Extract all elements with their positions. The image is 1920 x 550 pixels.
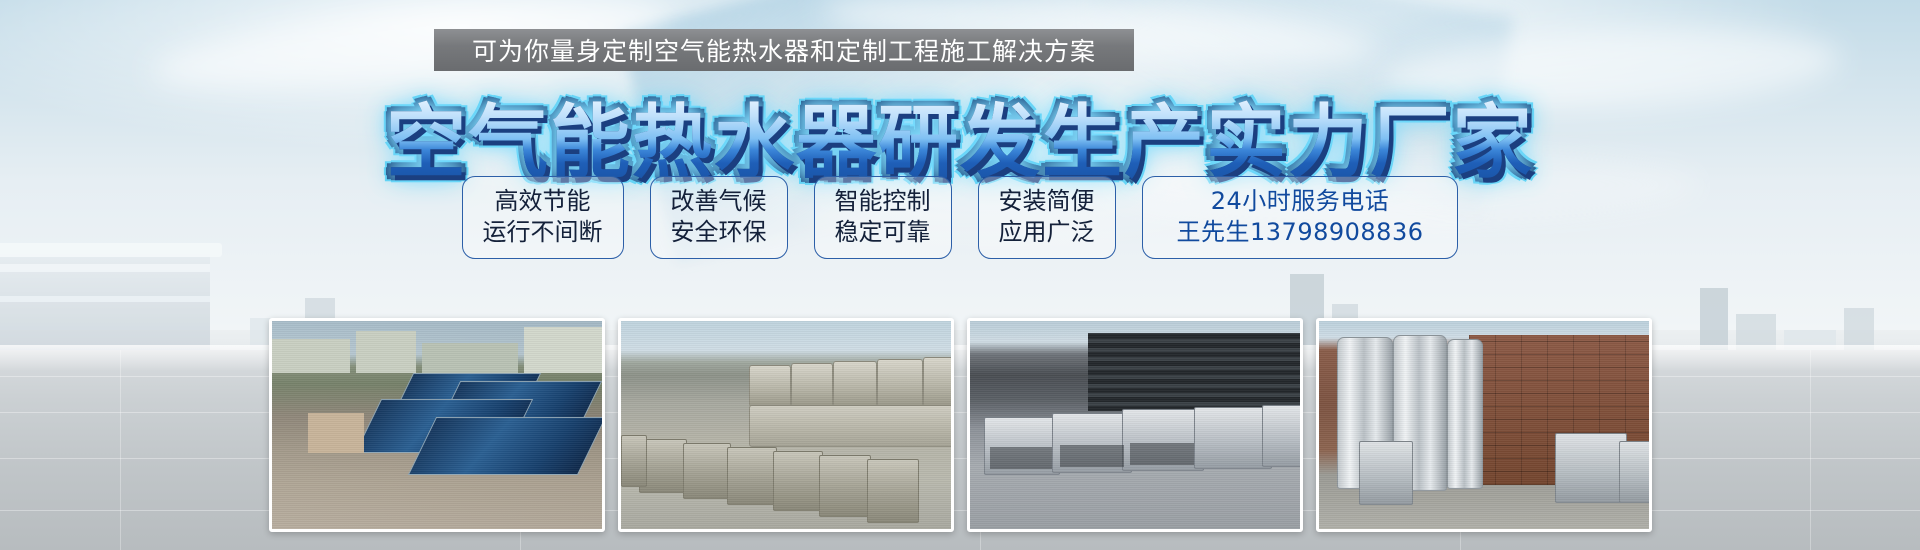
badge-easy-install[interactable]: 安装简便 应用广泛 <box>978 176 1116 259</box>
badge-line-2: 稳定可靠 <box>835 217 931 248</box>
photo-stainless-tanks[interactable] <box>1316 318 1652 532</box>
subtitle-text: 可为你量身定制空气能热水器和定制工程施工解决方案 <box>472 32 1096 68</box>
badge-environment[interactable]: 改善气候 安全环保 <box>650 176 788 259</box>
badge-line-2: 安全环保 <box>671 217 767 248</box>
photo-commercial-heatpumps[interactable] <box>967 318 1303 532</box>
promo-banner: 可为你量身定制空气能热水器和定制工程施工解决方案 空气能热水器研发生产实力厂家 … <box>0 0 1920 550</box>
hotline-number: 王先生13798908836 <box>1177 217 1424 248</box>
badge-service-hotline[interactable]: 24小时服务电话 王先生13798908836 <box>1142 176 1459 259</box>
product-photo-strip <box>0 318 1920 532</box>
photo-heatpump-tank-array[interactable] <box>618 318 954 532</box>
subtitle-bar: 可为你量身定制空气能热水器和定制工程施工解决方案 <box>434 29 1134 71</box>
badge-smart-control[interactable]: 智能控制 稳定可靠 <box>814 176 952 259</box>
badge-line-2: 运行不间断 <box>483 217 603 248</box>
feature-badge-row: 高效节能 运行不间断 改善气候 安全环保 智能控制 稳定可靠 安装简便 应用广泛… <box>0 176 1920 259</box>
hotline-label: 24小时服务电话 <box>1211 186 1390 217</box>
badge-line-1: 安装简便 <box>999 186 1095 217</box>
badge-line-1: 智能控制 <box>835 186 931 217</box>
badge-line-1: 改善气候 <box>671 186 767 217</box>
badge-line-1: 高效节能 <box>495 186 591 217</box>
badge-line-2: 应用广泛 <box>999 217 1095 248</box>
badge-efficiency[interactable]: 高效节能 运行不间断 <box>462 176 624 259</box>
photo-solar-collectors[interactable] <box>269 318 605 532</box>
